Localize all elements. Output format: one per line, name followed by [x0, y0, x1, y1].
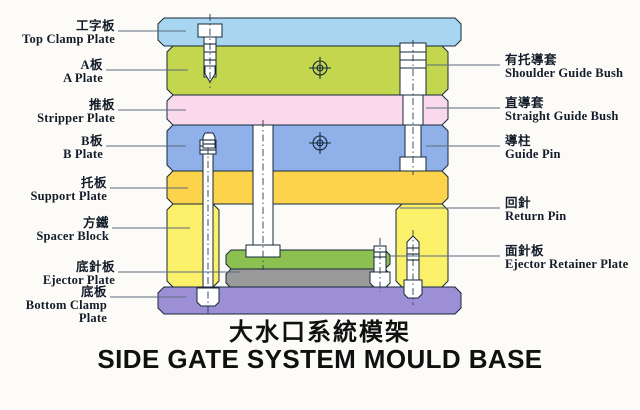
label-top-clamp-plate: 工字板 Top Clamp Plate [0, 20, 115, 46]
label-spacer-block: 方鐵 Spacer Block [0, 217, 109, 243]
label-cn: 有托導套 [505, 54, 623, 67]
label-en: Straight Guide Bush [505, 110, 619, 123]
label-ejector-retainer-plate: 面針板 Ejector Retainer Plate [505, 245, 628, 271]
label-cn: 直導套 [505, 97, 619, 110]
label-cn: B板 [0, 135, 103, 148]
label-shoulder-guide-bush: 有托導套 Shoulder Guide Bush [505, 54, 623, 80]
label-guide-pin: 導柱 Guide Pin [505, 135, 561, 161]
label-en: A Plate [0, 72, 103, 85]
label-cn: 工字板 [0, 20, 115, 33]
label-cn: 推板 [0, 99, 115, 112]
label-en: Return Pin [505, 210, 566, 223]
plate-ejector [226, 269, 390, 288]
label-en: Stripper Plate [0, 112, 115, 125]
label-cn: 方鐵 [0, 217, 109, 230]
label-straight-guide-bush: 直導套 Straight Guide Bush [505, 97, 619, 123]
label-en: Top Clamp Plate [0, 33, 115, 46]
ejector-pin-b-plate [203, 133, 215, 148]
label-en: Support Plate [0, 190, 107, 203]
label-cn: 托板 [0, 177, 107, 190]
label-stripper-plate: 推板 Stripper Plate [0, 99, 115, 125]
label-en: B Plate [0, 148, 103, 161]
label-cn: 底板 [0, 286, 107, 299]
label-return-pin: 回針 Return Pin [505, 197, 566, 223]
label-cn: 導柱 [505, 135, 561, 148]
label-en: Ejector Retainer Plate [505, 258, 628, 271]
label-cn: 面針板 [505, 245, 628, 258]
label-a-plate: A板 A Plate [0, 59, 103, 85]
spacer-block-right [396, 204, 448, 287]
title-english: SIDE GATE SYSTEM MOULD BASE [0, 344, 640, 375]
label-cn: 底針板 [0, 261, 115, 274]
label-en: Shoulder Guide Bush [505, 67, 623, 80]
title-chinese: 大水口系統模架 [0, 312, 640, 347]
diagram-canvas: .o { stroke:#16283a; stroke-width:1; } .… [0, 0, 640, 410]
label-support-plate: 托板 Support Plate [0, 177, 107, 203]
label-en: Guide Pin [505, 148, 561, 161]
label-ejector-plate: 底針板 Ejector Plate [0, 261, 115, 287]
label-cn: A板 [0, 59, 103, 72]
label-en: Spacer Block [0, 230, 109, 243]
label-cn: 回針 [505, 197, 566, 210]
label-b-plate: B板 B Plate [0, 135, 103, 161]
